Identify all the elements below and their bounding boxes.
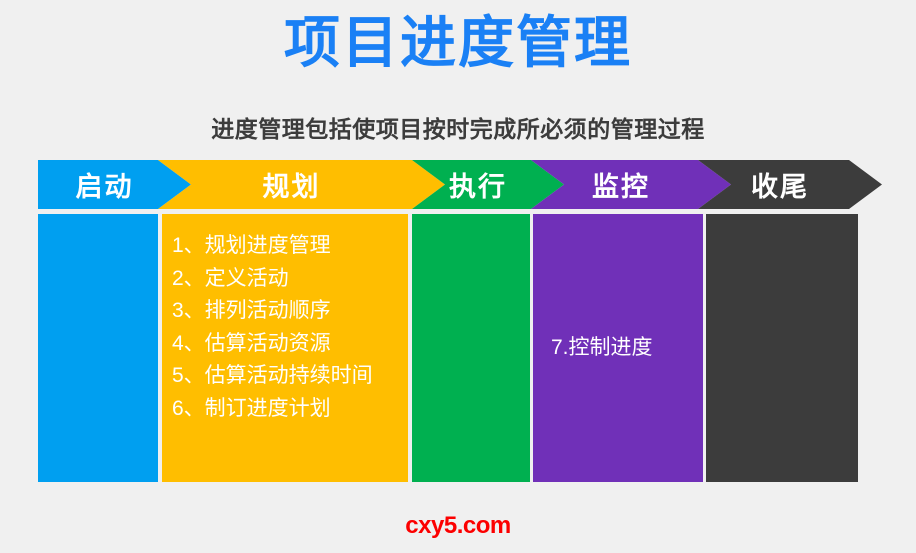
phase-header-label: 收尾 xyxy=(751,165,809,204)
phase-task-list: 1、规划进度管理 2、定义活动 3、排列活动顺序 4、估算活动资源 5、估算活动… xyxy=(162,214,408,425)
phase-column-closing[interactable] xyxy=(706,214,858,482)
phase-body-row: 1、规划进度管理 2、定义活动 3、排列活动顺序 4、估算活动资源 5、估算活动… xyxy=(38,214,882,482)
task-item: 4、估算活动资源 xyxy=(172,328,398,361)
phase-header-planning[interactable]: 规划 xyxy=(158,160,445,209)
task-item: 7.控制进度 xyxy=(551,332,653,365)
task-item: 3、排列活动顺序 xyxy=(172,295,398,328)
task-item: 5、估算活动持续时间 xyxy=(172,360,398,393)
task-item: 6、制订进度计划 xyxy=(172,393,398,426)
phase-column-executing[interactable] xyxy=(412,214,530,482)
phase-header-label: 监控 xyxy=(592,165,650,204)
phase-task-list: 7.控制进度 xyxy=(533,214,703,482)
phase-task-list xyxy=(706,214,858,230)
page-subtitle: 进度管理包括使项目按时完成所必须的管理过程 xyxy=(0,110,916,144)
page-title: 项目进度管理 xyxy=(0,8,916,78)
phase-column-monitoring[interactable]: 7.控制进度 xyxy=(533,214,703,482)
phase-diagram: 启动 规划 执行 监控 收尾 1、规划进度管理 2、定义活动 3、排列活动顺序 … xyxy=(38,160,882,485)
footer-watermark: cxy5.com xyxy=(0,512,916,540)
phase-column-initiating[interactable] xyxy=(38,214,158,482)
phase-header-label: 启动 xyxy=(76,165,134,204)
phase-header-label: 规划 xyxy=(263,165,321,204)
phase-task-list xyxy=(412,214,530,230)
phase-header-row: 启动 规划 执行 监控 收尾 xyxy=(38,160,882,209)
phase-header-label: 执行 xyxy=(449,165,507,204)
phase-column-planning[interactable]: 1、规划进度管理 2、定义活动 3、排列活动顺序 4、估算活动资源 5、估算活动… xyxy=(162,214,408,482)
task-item: 1、规划进度管理 xyxy=(172,230,398,263)
task-item: 2、定义活动 xyxy=(172,263,398,296)
phase-task-list xyxy=(38,214,158,230)
